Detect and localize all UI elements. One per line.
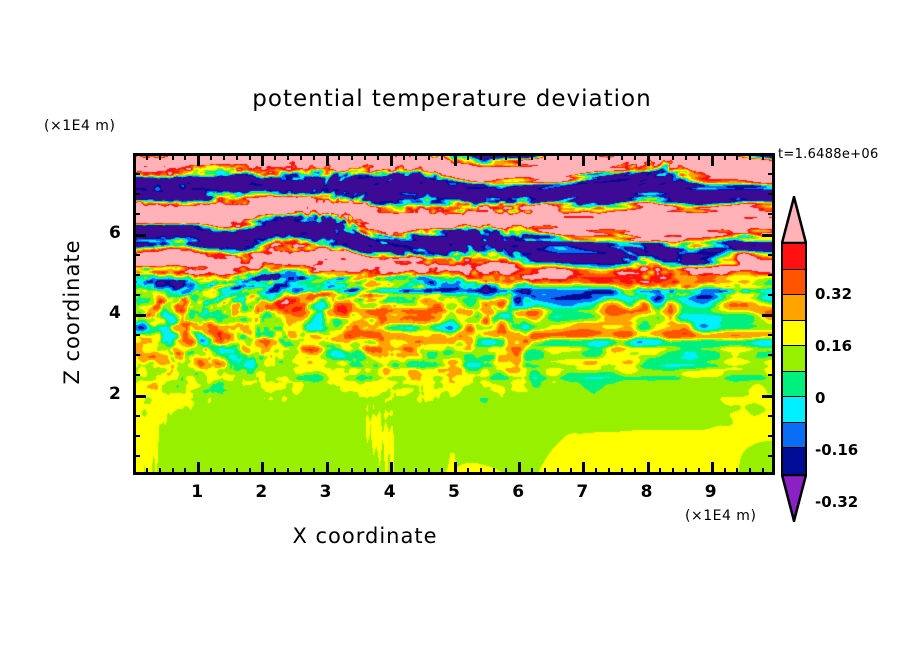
tick-mark [300, 153, 302, 160]
x-tick-label: 4 [384, 482, 396, 502]
tick-mark [390, 462, 393, 475]
tick-mark [210, 153, 212, 160]
tick-mark [621, 153, 623, 160]
tick-mark [351, 153, 353, 160]
tick-mark [313, 153, 315, 160]
colorbar-tick-label: 0 [815, 389, 825, 407]
tick-mark [608, 153, 610, 160]
tick-mark [768, 254, 775, 256]
tick-mark [749, 153, 751, 160]
tick-mark [531, 153, 533, 160]
tick-mark [621, 468, 623, 475]
tick-mark [762, 468, 764, 475]
colorbar-band [783, 397, 805, 423]
tick-mark [570, 468, 572, 475]
y-axis-title: Z coordinate [60, 222, 84, 402]
x-axis-unit-label: (×1E4 m) [685, 508, 756, 524]
x-tick-label: 9 [705, 482, 717, 502]
colorbar-tick-label: -0.16 [815, 441, 858, 459]
tick-mark [133, 274, 140, 276]
tick-mark [768, 415, 775, 417]
tick-mark [364, 153, 366, 160]
tick-mark [338, 468, 340, 475]
tick-mark [133, 193, 140, 195]
tick-mark [261, 153, 264, 166]
tick-mark [736, 468, 738, 475]
tick-mark [557, 468, 559, 475]
x-axis-title: X coordinate [0, 524, 730, 548]
tick-mark [415, 153, 417, 160]
tick-mark [768, 173, 775, 175]
tick-mark [544, 153, 546, 160]
tick-mark [768, 374, 775, 376]
x-tick-label: 6 [512, 482, 524, 502]
tick-mark [326, 462, 329, 475]
tick-mark [351, 468, 353, 475]
tick-mark [133, 354, 140, 356]
tick-mark [711, 462, 714, 475]
tick-mark [441, 153, 443, 160]
tick-mark [249, 468, 251, 475]
y-tick-label: 6 [109, 223, 121, 243]
tick-mark [595, 468, 597, 475]
tick-mark [768, 354, 775, 356]
tick-mark [768, 213, 775, 215]
tick-mark [184, 153, 186, 160]
tick-mark [249, 153, 251, 160]
colorbar-band [783, 448, 805, 474]
tick-mark [768, 193, 775, 195]
tick-mark [711, 153, 714, 166]
tick-mark [724, 468, 726, 475]
tick-mark [236, 468, 238, 475]
contour-plot-area [133, 153, 775, 475]
x-tick-label: 7 [576, 482, 588, 502]
tick-mark [133, 254, 140, 256]
tick-mark [672, 468, 674, 475]
colorbar-over-arrow [781, 196, 807, 244]
colorbar-band [783, 346, 805, 372]
tick-mark [274, 153, 276, 160]
tick-mark [441, 468, 443, 475]
tick-mark [672, 153, 674, 160]
tick-mark [403, 153, 405, 160]
tick-mark [467, 153, 469, 160]
tick-mark [531, 468, 533, 475]
tick-mark [557, 153, 559, 160]
tick-mark [377, 468, 379, 475]
tick-mark [133, 234, 146, 237]
y-axis-unit-label: (×1E4 m) [44, 118, 115, 134]
tick-mark [736, 153, 738, 160]
tick-mark [647, 462, 650, 475]
tick-mark [634, 468, 636, 475]
tick-mark [159, 153, 161, 160]
tick-mark [223, 468, 225, 475]
tick-mark [133, 435, 140, 437]
tick-mark [326, 153, 329, 166]
timestamp-label: t=1.6488e+06 [778, 147, 879, 162]
tick-mark [454, 153, 457, 166]
tick-mark [133, 173, 140, 175]
tick-mark [377, 153, 379, 160]
tick-mark [768, 334, 775, 336]
tick-mark [338, 153, 340, 160]
tick-mark [184, 468, 186, 475]
colorbar-bands [781, 242, 807, 476]
colorbar-band [783, 270, 805, 296]
tick-mark [768, 274, 775, 276]
tick-mark [133, 314, 146, 317]
tick-mark [364, 468, 366, 475]
colorbar: 0.320.160-0.16-0.32 [779, 196, 809, 526]
colorbar-band [783, 244, 805, 270]
tick-mark [582, 153, 585, 166]
tick-mark [428, 468, 430, 475]
tick-mark [415, 468, 417, 475]
tick-mark [762, 234, 775, 237]
tick-mark [172, 153, 174, 160]
tick-mark [749, 468, 751, 475]
tick-mark [223, 153, 225, 160]
tick-mark [518, 153, 521, 166]
tick-mark [210, 468, 212, 475]
tick-mark [287, 468, 289, 475]
tick-mark [197, 462, 200, 475]
tick-mark [518, 462, 521, 475]
tick-mark [133, 374, 140, 376]
colorbar-tick-label: -0.32 [815, 493, 858, 511]
tick-mark [133, 415, 140, 417]
tick-mark [582, 462, 585, 475]
tick-mark [159, 468, 161, 475]
tick-mark [608, 468, 610, 475]
page-title: potential temperature deviation [0, 86, 904, 112]
tick-mark [467, 468, 469, 475]
tick-mark [570, 153, 572, 160]
tick-mark [274, 468, 276, 475]
tick-mark [146, 468, 148, 475]
tick-mark [428, 153, 430, 160]
x-tick-label: 1 [191, 482, 203, 502]
tick-mark [480, 468, 482, 475]
tick-mark [261, 462, 264, 475]
contour-field [136, 156, 775, 475]
tick-mark [493, 153, 495, 160]
tick-mark [595, 153, 597, 160]
tick-mark [685, 153, 687, 160]
tick-mark [544, 468, 546, 475]
tick-mark [133, 334, 140, 336]
tick-mark [659, 153, 661, 160]
tick-mark [390, 153, 393, 166]
tick-mark [505, 153, 507, 160]
tick-mark [493, 468, 495, 475]
colorbar-band [783, 295, 805, 321]
colorbar-band [783, 321, 805, 347]
tick-mark [685, 468, 687, 475]
tick-mark [236, 153, 238, 160]
tick-mark [698, 468, 700, 475]
tick-mark [724, 153, 726, 160]
tick-mark [762, 395, 775, 398]
tick-mark [480, 153, 482, 160]
colorbar-under-arrow [781, 474, 807, 522]
y-tick-label: 2 [109, 384, 121, 404]
tick-mark [505, 468, 507, 475]
tick-mark [300, 468, 302, 475]
tick-mark [313, 468, 315, 475]
tick-mark [762, 153, 764, 160]
colorbar-band [783, 372, 805, 398]
tick-mark [768, 455, 775, 457]
tick-mark [768, 294, 775, 296]
tick-mark [634, 153, 636, 160]
tick-mark [133, 455, 140, 457]
tick-mark [762, 314, 775, 317]
tick-mark [403, 468, 405, 475]
tick-mark [698, 153, 700, 160]
tick-mark [647, 153, 650, 166]
x-tick-label: 8 [641, 482, 653, 502]
x-tick-label: 3 [320, 482, 332, 502]
tick-mark [133, 213, 140, 215]
tick-mark [287, 153, 289, 160]
y-tick-label: 4 [109, 303, 121, 323]
tick-mark [768, 435, 775, 437]
x-tick-label: 5 [448, 482, 460, 502]
tick-mark [197, 153, 200, 166]
tick-mark [454, 462, 457, 475]
colorbar-tick-label: 0.16 [815, 337, 852, 355]
tick-mark [133, 395, 146, 398]
colorbar-band [783, 423, 805, 449]
tick-mark [659, 468, 661, 475]
tick-mark [172, 468, 174, 475]
tick-mark [146, 153, 148, 160]
x-tick-label: 2 [255, 482, 267, 502]
colorbar-tick-label: 0.32 [815, 285, 852, 303]
tick-mark [133, 294, 140, 296]
